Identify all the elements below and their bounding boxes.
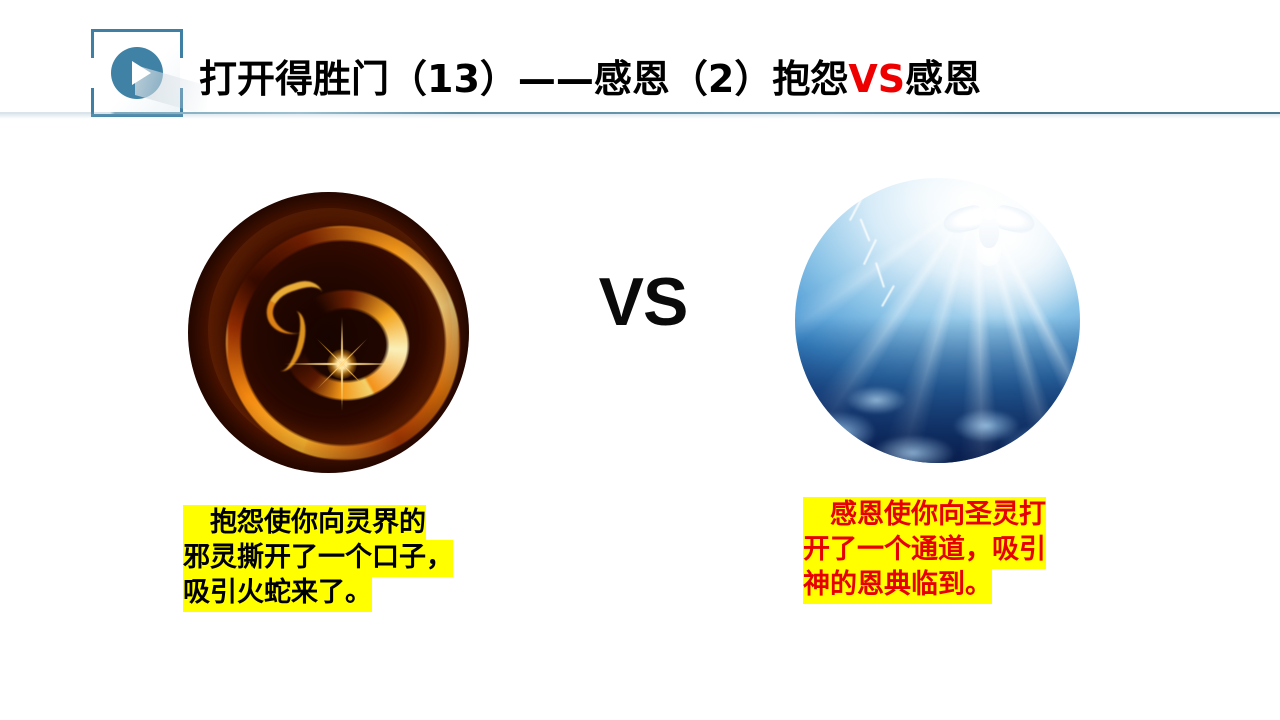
- left-caption-line: 吸引火蛇来了。: [183, 575, 453, 610]
- header-divider-glow: [0, 114, 1280, 119]
- frame-edge-top: [91, 29, 183, 32]
- right-caption-line: 神的恩典临到。: [803, 567, 1046, 602]
- right-caption-line: 感恩使你向圣灵打: [803, 497, 1046, 532]
- left-caption: 抱怨使你向灵界的 邪灵撕开了一个口子， 吸引火蛇来了。: [183, 505, 453, 610]
- fire-serpent-image: [188, 192, 469, 473]
- right-caption-line-3-text: 神的恩典临到。: [803, 567, 992, 604]
- left-caption-line: 抱怨使你向灵界的: [183, 505, 453, 540]
- page-title-suffix: 感恩: [905, 57, 981, 101]
- page-title-prefix: 打开得胜门（13）——感恩（2）抱怨: [199, 57, 848, 101]
- right-caption-line-2-text: 开了一个通道，吸引: [803, 532, 1046, 569]
- left-caption-line-3-text: 吸引火蛇来了。: [183, 575, 372, 612]
- slide-header: 打开得胜门（13）——感恩（2）抱怨VS感恩: [0, 0, 1280, 125]
- play-icon[interactable]: [111, 47, 163, 99]
- right-caption-line: 开了一个通道，吸引: [803, 532, 1046, 567]
- play-icon-triangle: [132, 61, 151, 85]
- page-title-vs: VS: [848, 57, 905, 101]
- dove-sky-image: [795, 178, 1080, 463]
- fire-vignette: [188, 192, 469, 473]
- dove-head: [983, 208, 995, 220]
- vs-label: VS: [588, 268, 698, 336]
- frame-edge-left-top: [91, 29, 94, 58]
- dove-wing-right: [993, 204, 1038, 237]
- left-caption-line-2-text: 邪灵撕开了一个口子，: [183, 540, 453, 577]
- left-caption-line: 邪灵撕开了一个口子，: [183, 540, 453, 575]
- right-caption: 感恩使你向圣灵打 开了一个通道，吸引 神的恩典临到。: [803, 497, 1046, 602]
- frame-edge-right-top: [180, 29, 183, 58]
- dove-icon: [943, 206, 1035, 272]
- right-caption-line-1-text: 感恩使你向圣灵打: [803, 497, 1046, 534]
- left-caption-line-1-text: 抱怨使你向灵界的: [183, 505, 426, 542]
- page-title: 打开得胜门（13）——感恩（2）抱怨VS感恩: [199, 48, 981, 110]
